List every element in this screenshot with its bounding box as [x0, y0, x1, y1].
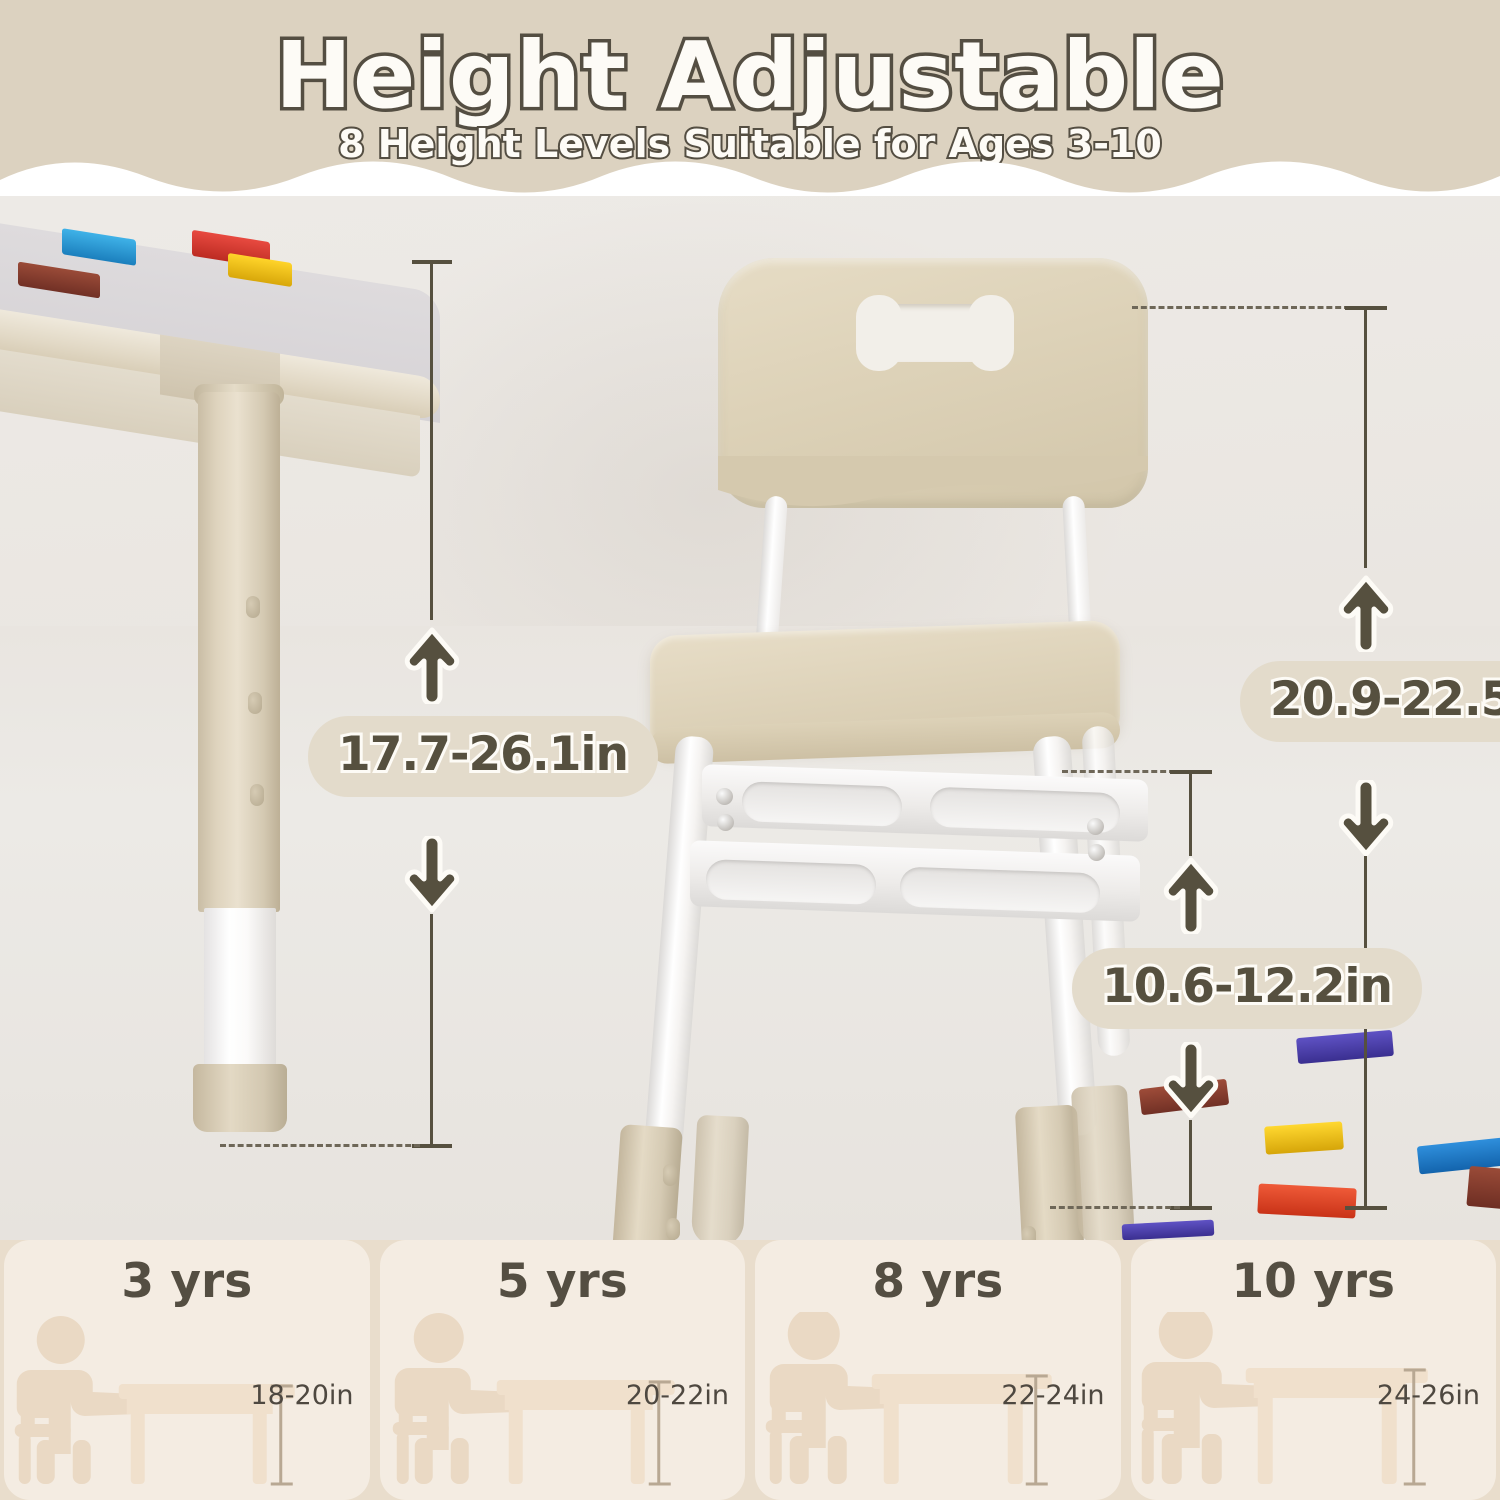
dim3-leader-top [1062, 770, 1184, 773]
table-leg-white-section [204, 908, 276, 1073]
brown-block-floor2 [1466, 1166, 1500, 1210]
arrow-up-icon [404, 626, 460, 704]
age-card-8yrs: 8 yrs 22-24in [755, 1240, 1121, 1500]
measurement-label-seat-height: 10.6-12.2in [1072, 948, 1422, 1029]
chair-foot-notch-3 [1022, 1226, 1036, 1240]
age-height-value: 22-24in [1001, 1380, 1104, 1411]
dim2-line-bottom [1364, 856, 1367, 1208]
chair-brace-lower-slot-left [706, 859, 876, 905]
age-comparison-strip: 3 yrs 18-20in [0, 1240, 1500, 1500]
table-leg-notch-2 [248, 692, 262, 714]
chair-foot-notch-2 [666, 1218, 680, 1240]
chair-handle-cutout [860, 304, 1010, 362]
chair-brace-lower-slot-right [900, 867, 1100, 914]
age-height-value: 18-20in [250, 1380, 353, 1411]
age-label: 3 yrs [4, 1254, 370, 1309]
arrow-up-icon-3 [1163, 856, 1219, 934]
product-photo-scene: 17.7-26.1in 20.9-22.5in 10.6-12.2in [0, 196, 1500, 1240]
chair-screw-right-lower [1088, 844, 1105, 861]
age-card-3yrs: 3 yrs 18-20in [4, 1240, 370, 1500]
arrow-down-icon-2 [1338, 780, 1394, 858]
dim3-line-top [1189, 770, 1192, 856]
arrow-up-icon-2 [1338, 574, 1394, 652]
age-label: 5 yrs [380, 1254, 746, 1309]
age-label: 8 yrs [755, 1254, 1121, 1309]
table-leg-foot-cap [193, 1064, 287, 1132]
yellow-block-floor [1264, 1121, 1344, 1154]
arrow-down-icon [404, 836, 460, 914]
arrow-down-icon-3 [1163, 1042, 1219, 1120]
age-label: 10 yrs [1131, 1254, 1497, 1309]
dim2-leader-top [1132, 306, 1350, 309]
page-title: Height Adjustable [0, 22, 1500, 129]
header-banner: Height Adjustable 8 Height Levels Suitab… [0, 0, 1500, 200]
scalloped-divider [0, 152, 1500, 200]
chair-foot-notch-1 [663, 1164, 677, 1186]
dim3-line-bottom [1189, 1120, 1192, 1208]
dim3-leader-bottom [1050, 1206, 1180, 1209]
table-leg-notch-1 [246, 596, 260, 618]
age-card-10yrs: 10 yrs 24-26in [1131, 1240, 1497, 1500]
chair-screw-right-upper [1087, 818, 1104, 835]
chair-screw-upper [716, 788, 733, 805]
age-height-value: 20-22in [626, 1380, 729, 1411]
dim1-leader-bottom [220, 1144, 420, 1147]
red-block-floor [1257, 1183, 1356, 1218]
age-height-value: 24-26in [1377, 1380, 1480, 1411]
age-card-5yrs: 5 yrs 20-22in [380, 1240, 746, 1500]
chair-screw-lower [717, 814, 734, 831]
measurement-label-chair-total: 20.9-22.5in [1240, 661, 1500, 742]
dim2-cap-bottom [1345, 1206, 1387, 1210]
dim1-line-top [430, 260, 433, 620]
dim2-line-top [1364, 306, 1367, 568]
measurement-label-table-height: 17.7-26.1in [308, 716, 658, 797]
table-leg-notch-3 [250, 784, 264, 806]
chair-brace-upper-slot-left [742, 781, 902, 827]
table-leg-upper [198, 392, 280, 912]
chair-foot-back-right [1071, 1085, 1135, 1240]
chair-foot-back-left [691, 1115, 750, 1240]
dim1-line-bottom [430, 914, 433, 1146]
